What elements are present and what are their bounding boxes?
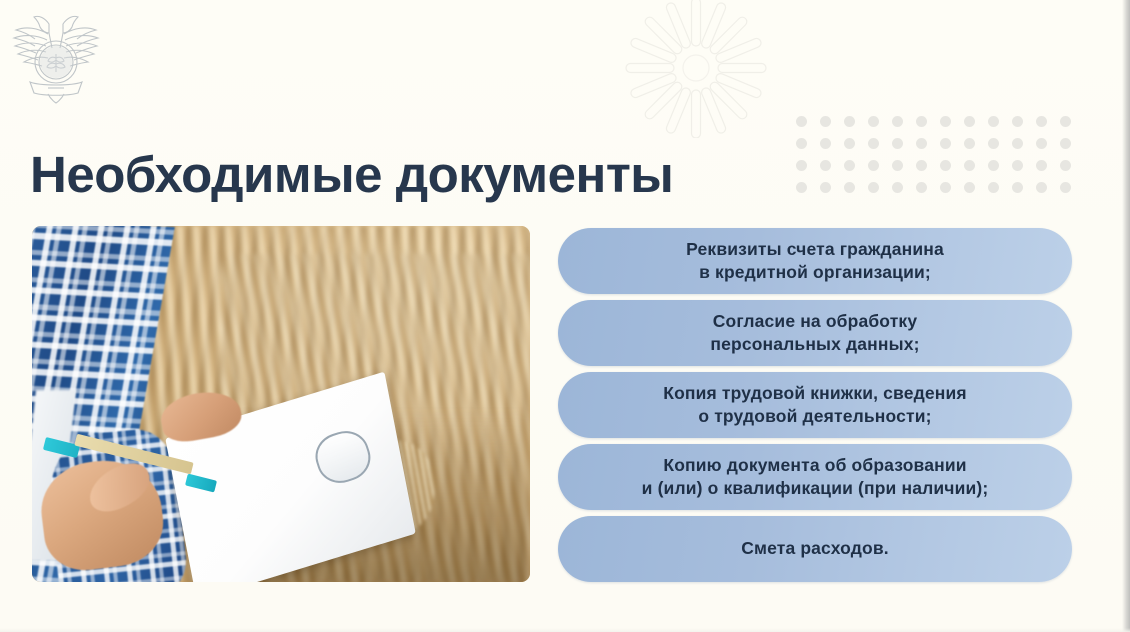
list-item-label: Реквизиты счета гражданина в кредитной о…	[660, 238, 970, 285]
double-headed-eagle-emblem-icon	[8, 4, 104, 104]
slide-canvas: Необходимые документы Реквизиты счета гр…	[0, 0, 1130, 632]
list-item[interactable]: Копию документа об образовании и (или) о…	[558, 444, 1072, 510]
list-item[interactable]: Копия трудовой книжки, сведения о трудов…	[558, 372, 1072, 438]
list-item-label: Смета расходов.	[715, 537, 915, 560]
list-item-label: Копия трудовой книжки, сведения о трудов…	[637, 382, 993, 429]
list-item[interactable]: Реквизиты счета гражданина в кредитной о…	[558, 228, 1072, 294]
list-item-label: Согласие на обработку персональных данны…	[684, 310, 945, 357]
right-edge-strip	[1122, 0, 1130, 632]
bottom-edge-strip	[0, 628, 1130, 632]
documents-list: Реквизиты счета гражданина в кредитной о…	[558, 228, 1072, 582]
list-item[interactable]: Согласие на обработку персональных данны…	[558, 300, 1072, 366]
sunburst-icon	[611, 0, 781, 138]
list-item-label: Копию документа об образовании и (или) о…	[616, 454, 1015, 501]
list-item[interactable]: Смета расходов.	[558, 516, 1072, 582]
page-title: Необходимые документы	[30, 148, 673, 202]
dot-grid-icon	[789, 110, 1077, 198]
farmer-field-photo	[32, 226, 530, 582]
